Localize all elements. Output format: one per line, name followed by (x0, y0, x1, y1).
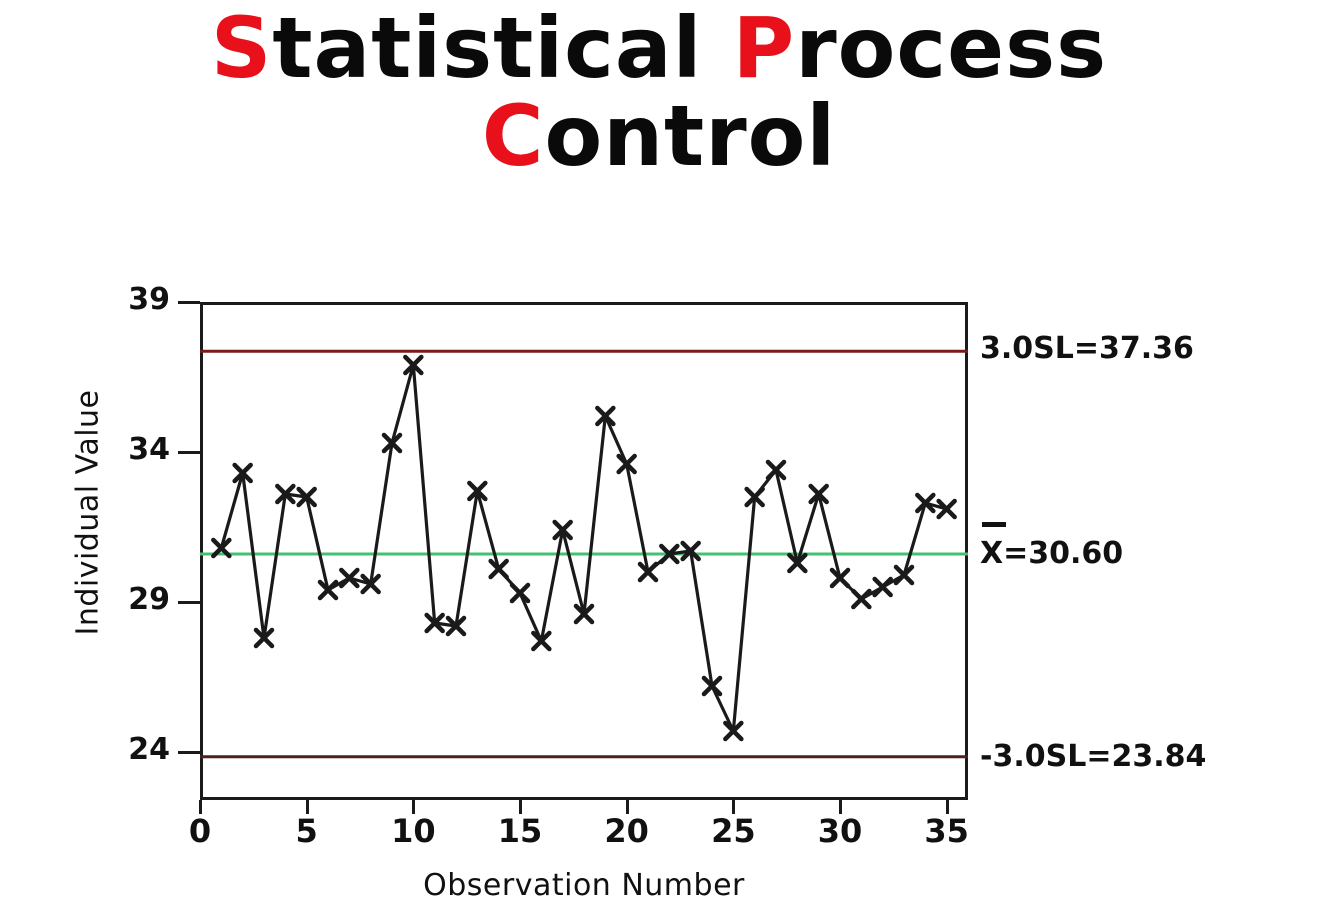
y-axis-tick-mark (178, 601, 200, 604)
data-point-marker (875, 579, 891, 595)
title-cap-c: C (482, 87, 545, 185)
y-axis-tick-mark (178, 451, 200, 454)
x-axis-tick-label: 25 (698, 812, 768, 850)
title-word-statistical: tatistical (272, 0, 732, 97)
lower-control-limit-label: -3.0SL=23.84 (980, 739, 1206, 774)
x-axis-tick-label: 20 (592, 812, 662, 850)
x-axis-tick-mark (306, 800, 309, 814)
center-line-label-wrap: X=30.60 (980, 536, 1123, 571)
data-point-marker (512, 585, 528, 601)
page-title: Statistical Process Control (0, 4, 1318, 180)
y-axis-tick-label: 24 (100, 732, 170, 767)
title-word-process: rocess (795, 0, 1107, 97)
title-line-1: Statistical Process (0, 4, 1318, 92)
x-axis-tick-mark (412, 800, 415, 814)
y-axis-title: Individual Value (71, 363, 106, 663)
x-axis-tick-mark (199, 800, 202, 814)
y-axis-tick-label: 39 (100, 282, 170, 317)
x-axis-tick-mark (732, 800, 735, 814)
x-axis-tick-mark (946, 800, 949, 814)
x-axis-title: Observation Number (200, 868, 968, 903)
data-point-marker (853, 591, 869, 607)
center-line-overbar (982, 522, 1006, 527)
center-line-label: X=30.60 (980, 536, 1123, 571)
control-chart: 24293439 05101520253035 Individual Value… (0, 250, 1318, 915)
title-cap-s: S (211, 0, 273, 97)
y-axis-tick-label: 29 (100, 582, 170, 617)
x-axis-tick-mark (839, 800, 842, 814)
x-axis-tick-label: 15 (485, 812, 555, 850)
x-axis-tick-label: 35 (912, 812, 982, 850)
y-axis-tick-mark (178, 751, 200, 754)
plot-canvas (200, 302, 968, 800)
data-series-line (221, 365, 946, 731)
title-word-control: ontrol (545, 87, 837, 185)
y-axis-tick-label: 34 (100, 432, 170, 467)
x-axis-tick-mark (626, 800, 629, 814)
title-cap-p: P (733, 0, 796, 97)
x-axis-tick-label: 10 (378, 812, 448, 850)
upper-control-limit-label: 3.0SL=37.36 (980, 331, 1194, 366)
x-axis-tick-label: 0 (165, 812, 235, 850)
y-axis-tick-mark (178, 301, 200, 304)
data-markers-group (213, 357, 954, 739)
x-axis-tick-mark (519, 800, 522, 814)
title-line-2: Control (0, 92, 1318, 180)
x-axis-tick-label: 5 (272, 812, 342, 850)
control-lines-group (200, 351, 968, 757)
x-axis-tick-label: 30 (805, 812, 875, 850)
